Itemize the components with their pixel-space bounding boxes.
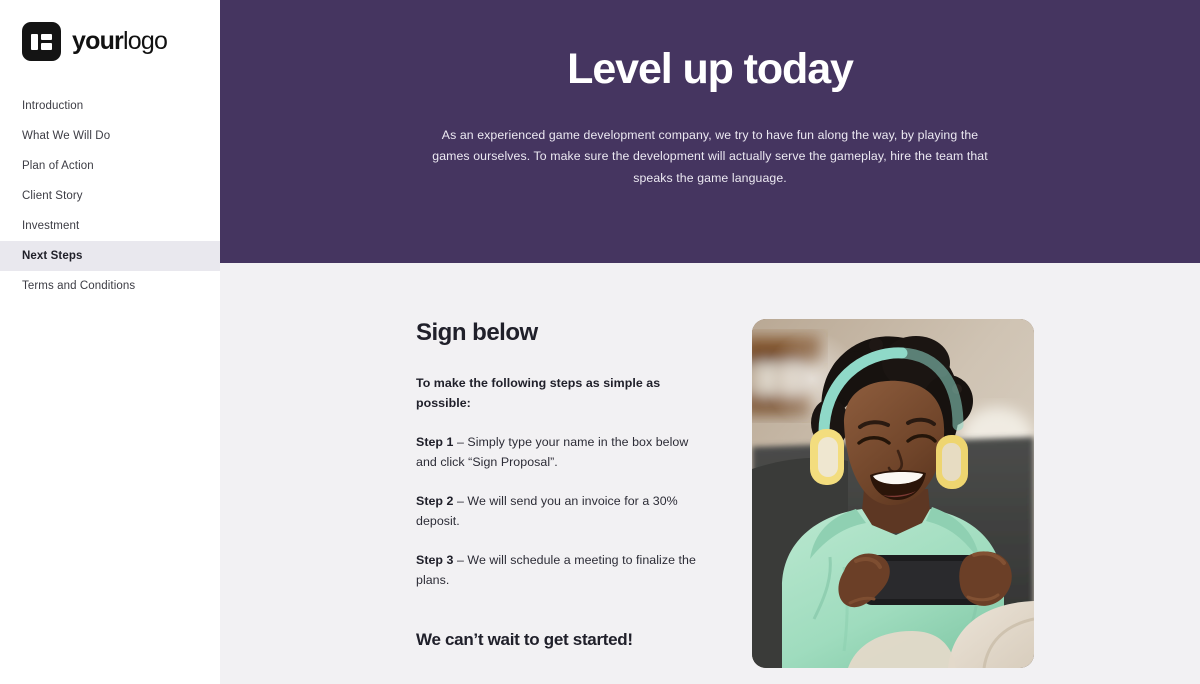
hero-paragraph: As an experienced game development compa… — [422, 125, 998, 188]
content-text-column: Sign below To make the following steps a… — [416, 319, 708, 650]
logo-text-bold: your — [72, 27, 123, 55]
step-3-label: Step 3 — [416, 553, 453, 567]
sidebar-item-next-steps[interactable]: Next Steps — [0, 241, 220, 271]
layout-grid-icon — [22, 22, 61, 61]
sidebar-item-client-story[interactable]: Client Story — [0, 181, 220, 211]
step-3-text: – We will schedule a meeting to finalize… — [416, 553, 696, 587]
closing-heading: We can’t wait to get started! — [416, 629, 708, 650]
logo[interactable]: yourlogo — [0, 0, 220, 61]
page-title: Level up today — [220, 46, 1200, 93]
content-section: Sign below To make the following steps a… — [220, 263, 1200, 684]
main-pane: Level up today As an experienced game de… — [220, 0, 1200, 684]
sidebar-item-terms-and-conditions[interactable]: Terms and Conditions — [0, 271, 220, 301]
sidebar-nav: Introduction What We Will Do Plan of Act… — [0, 91, 220, 301]
lead-paragraph: To make the following steps as simple as… — [416, 373, 708, 413]
content-photo — [752, 319, 1034, 668]
sidebar-item-what-we-will-do[interactable]: What We Will Do — [0, 121, 220, 151]
sidebar-item-plan-of-action[interactable]: Plan of Action — [0, 151, 220, 181]
step-2-label: Step 2 — [416, 494, 453, 508]
step-2: Step 2 – We will send you an invoice for… — [416, 491, 708, 531]
sidebar-item-investment[interactable]: Investment — [0, 211, 220, 241]
step-1-text: – Simply type your name in the box below… — [416, 435, 688, 469]
step-1: Step 1 – Simply type your name in the bo… — [416, 432, 708, 472]
step-1-label: Step 1 — [416, 435, 453, 449]
hero-banner: Level up today As an experienced game de… — [220, 0, 1200, 263]
step-3: Step 3 – We will schedule a meeting to f… — [416, 550, 708, 590]
sidebar: yourlogo Introduction What We Will Do Pl… — [0, 0, 220, 684]
sidebar-item-introduction[interactable]: Introduction — [0, 91, 220, 121]
section-title: Sign below — [416, 319, 708, 348]
photo-illustration — [752, 319, 1034, 668]
step-2-text: – We will send you an invoice for a 30% … — [416, 494, 678, 528]
logo-text: yourlogo — [72, 29, 167, 54]
logo-text-light: logo — [123, 27, 167, 55]
